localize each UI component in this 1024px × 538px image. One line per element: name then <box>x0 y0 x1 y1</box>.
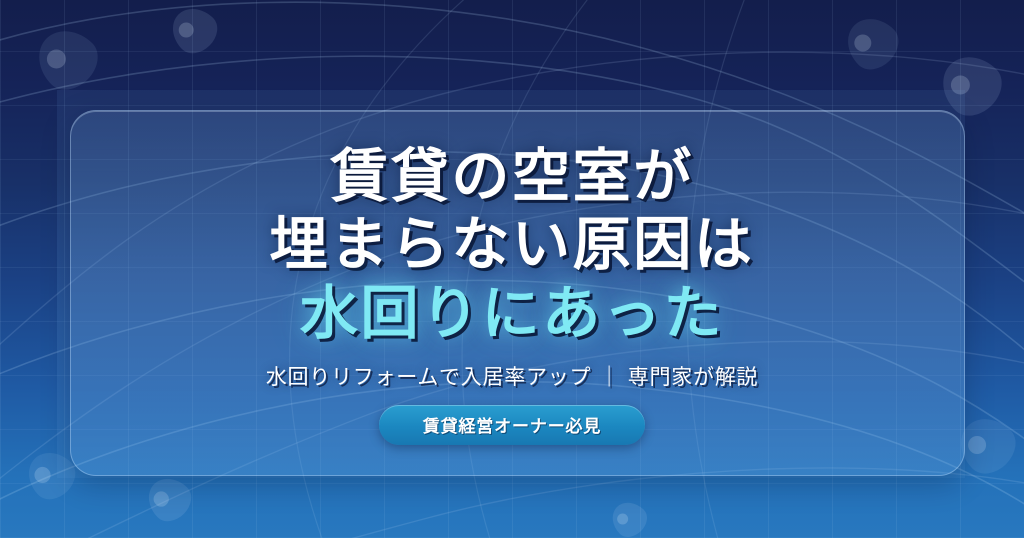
headline-line-2: 埋まらない原因は <box>270 214 755 274</box>
headline-line-3-accent: 水回りにあった <box>270 283 755 343</box>
subtitle: 水回りリフォームで入居率アップ ｜ 専門家が解説 <box>266 361 758 391</box>
hero-banner: 賃貸の空室が 埋まらない原因は 水回りにあった 水回りリフォームで入居率アップ … <box>0 0 1024 538</box>
banner-content: 賃貸の空室が 埋まらない原因は 水回りにあった 水回りリフォームで入居率アップ … <box>0 0 1024 538</box>
audience-badge[interactable]: 賃貸経営オーナー必見 <box>379 405 646 445</box>
headline-block: 賃貸の空室が 埋まらない原因は 水回りにあった <box>270 146 755 343</box>
badge-container: 賃貸経営オーナー必見 <box>379 405 646 445</box>
headline-line-1: 賃貸の空室が <box>270 146 755 206</box>
